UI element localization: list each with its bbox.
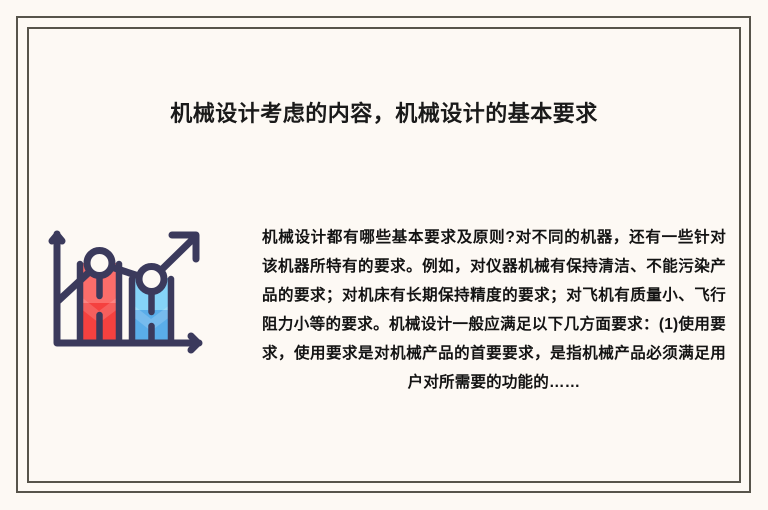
chart-y-axis-arrowhead (52, 234, 62, 244)
poster-card: 机械设计考虑的内容，机械设计的基本要求 (0, 0, 768, 510)
article-body-text: 机械设计都有哪些基本要求及原则?对不同的机器，还有一些针对该机器所特有的要求。例… (262, 223, 726, 397)
chart-data-marker-2 (139, 267, 164, 292)
chart-data-marker-1 (87, 251, 112, 276)
bar-line-chart-illustration (44, 216, 210, 356)
page-title: 机械设计考虑的内容，机械设计的基本要求 (0, 96, 768, 128)
